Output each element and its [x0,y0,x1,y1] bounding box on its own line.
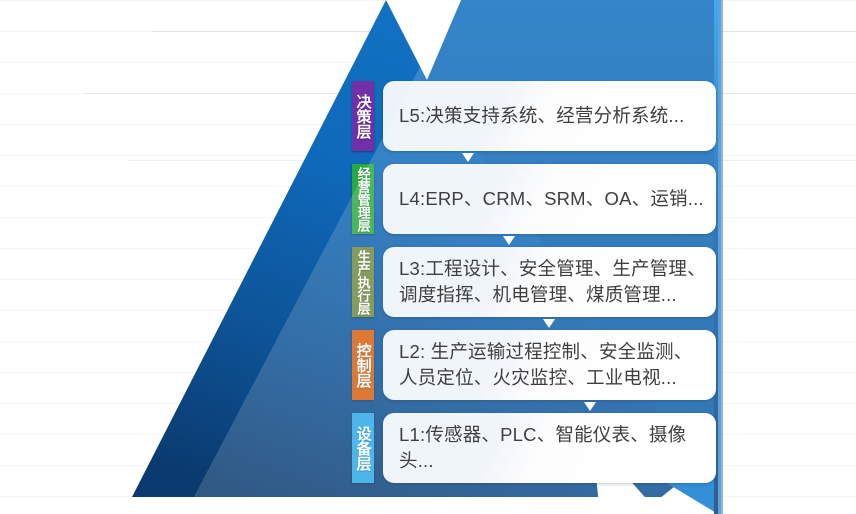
level-tab-label: 生产执行层 [356,250,369,315]
level-card-text: L3:工程设计、安全管理、生产管理、调度指挥、机电管理、煤质管理... [399,256,716,309]
diagram-canvas: 决策层 L5:决策支持系统、经营分析系统... 经营管理层 L4:ERP、CRM… [0,0,856,514]
level-tab-label: 决策层 [355,94,370,139]
level-tab-label: 设备层 [355,426,370,471]
pyramid-levels: 决策层 L5:决策支持系统、经营分析系统... 经营管理层 L4:ERP、CRM… [0,0,856,514]
level-tab-label: 控制层 [355,343,370,388]
level-marker-L4 [503,236,515,245]
level-card-L5[interactable]: L5:决策支持系统、经营分析系统... [383,81,716,151]
level-row-L4[interactable]: 经营管理层 L4:ERP、CRM、SRM、OA、运销... [352,164,716,234]
level-row-L2[interactable]: 控制层 L2: 生产运输过程控制、安全监测、人员定位、火灾监控、工业电视... [352,330,716,400]
level-card-text: L1:传感器、PLC、智能仪表、摄像头... [399,422,716,475]
level-row-L1[interactable]: 设备层 L1:传感器、PLC、智能仪表、摄像头... [352,413,716,483]
level-row-L5[interactable]: 决策层 L5:决策支持系统、经营分析系统... [352,81,716,151]
level-tab-L4[interactable]: 经营管理层 [352,164,374,234]
level-card-L2[interactable]: L2: 生产运输过程控制、安全监测、人员定位、火灾监控、工业电视... [383,330,716,400]
level-marker-L2 [584,402,596,411]
level-tab-L1[interactable]: 设备层 [352,413,374,483]
level-marker-L5 [462,153,474,162]
level-marker-L3 [543,319,555,328]
level-card-text: L2: 生产运输过程控制、安全监测、人员定位、火灾监控、工业电视... [399,339,716,392]
level-tab-L2[interactable]: 控制层 [352,330,374,400]
level-row-L3[interactable]: 生产执行层 L3:工程设计、安全管理、生产管理、调度指挥、机电管理、煤质管理..… [352,247,716,317]
level-tab-L3[interactable]: 生产执行层 [352,247,374,317]
level-card-L4[interactable]: L4:ERP、CRM、SRM、OA、运销... [383,164,716,234]
level-card-text: L5:决策支持系统、经营分析系统... [399,103,694,129]
level-card-L3[interactable]: L3:工程设计、安全管理、生产管理、调度指挥、机电管理、煤质管理... [383,247,716,317]
level-tab-label: 经营管理层 [356,167,369,232]
level-tab-L5[interactable]: 决策层 [352,81,374,151]
level-card-L1[interactable]: L1:传感器、PLC、智能仪表、摄像头... [383,413,716,483]
level-card-text: L4:ERP、CRM、SRM、OA、运销... [399,186,714,212]
